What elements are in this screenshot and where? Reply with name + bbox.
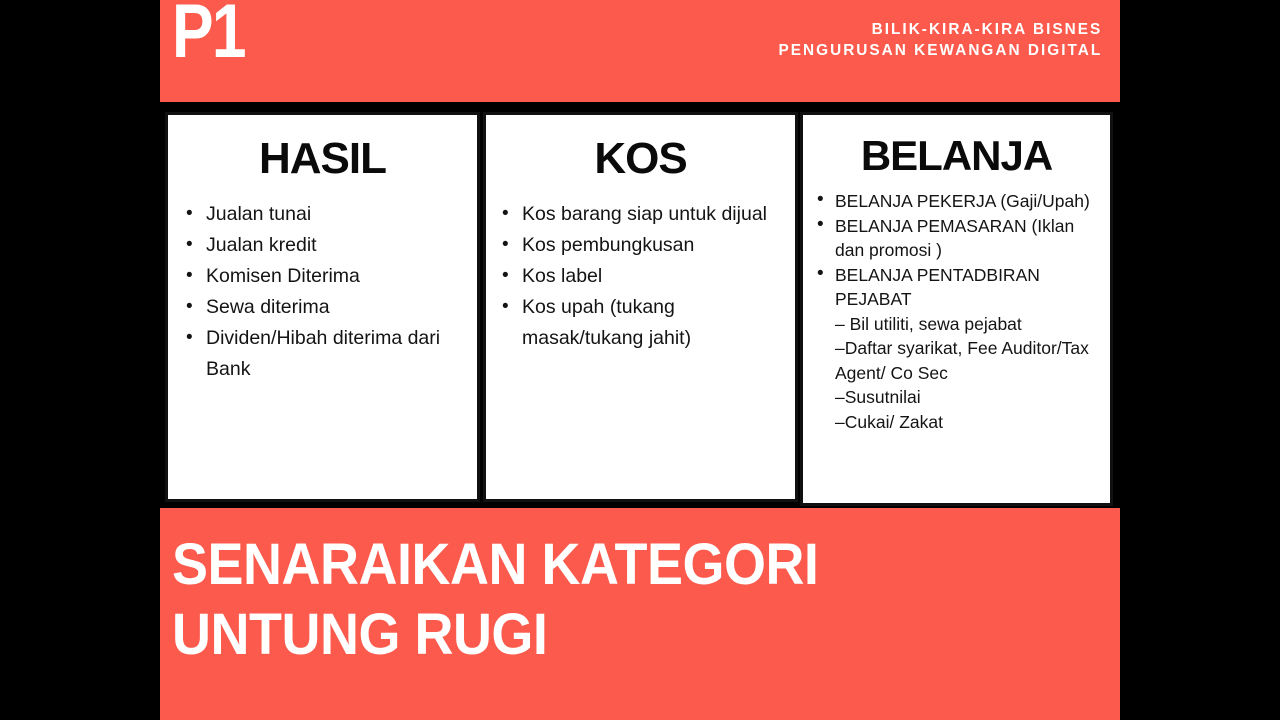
list-item: Dividen/Hibah diterima dari Bank [184, 323, 469, 385]
card-belanja: BELANJA BELANJA PEKERJA (Gaji/Upah) BELA… [800, 112, 1113, 506]
card-belanja-title: BELANJA [803, 135, 1110, 177]
list-item: Jualan kredit [184, 230, 469, 261]
sub-list-item: –Daftar syarikat, Fee Auditor/Tax Agent/… [835, 336, 1106, 385]
list-item: BELANJA PENTADBIRAN PEJABAT [815, 263, 1106, 312]
header-banner: P1 BILIK-KIRA-KIRA BISNES PENGURUSAN KEW… [160, 0, 1120, 102]
header-title-group: BILIK-KIRA-KIRA BISNES PENGURUSAN KEWANG… [765, 19, 1102, 61]
list-item: Kos pembungkusan [500, 230, 787, 261]
card-kos-list: Kos barang siap untuk dijual Kos pembung… [486, 199, 795, 354]
list-item: Kos barang siap untuk dijual [500, 199, 787, 230]
list-item: Sewa diterima [184, 292, 469, 323]
list-item: Jualan tunai [184, 199, 469, 230]
sub-list-item: –Susutnilai [835, 385, 1106, 410]
footer-banner: SENARAIKAN KATEGORI UNTUNG RUGI [160, 508, 1120, 720]
header-title-line-1: BILIK-KIRA-KIRA BISNES [778, 19, 1102, 40]
list-item: Kos label [500, 261, 787, 292]
footer-line-1: SENARAIKAN KATEGORI [172, 530, 1037, 600]
header-title-line-2: PENGURUSAN KEWANGAN DIGITAL [778, 40, 1102, 61]
card-belanja-list: BELANJA PEKERJA (Gaji/Upah) BELANJA PEMA… [803, 189, 1110, 312]
footer-text-group: SENARAIKAN KATEGORI UNTUNG RUGI [172, 530, 1102, 670]
sub-list-item: – Bil utiliti, sewa pejabat [835, 312, 1106, 337]
sub-list-item: –Cukai/ Zakat [835, 410, 1106, 435]
header-logo-p1: P1 [172, 0, 245, 70]
card-kos: KOS Kos barang siap untuk dijual Kos pem… [483, 112, 798, 502]
list-item: Kos upah (tukang masak/tukang jahit) [500, 292, 787, 354]
slide-canvas: P1 BILIK-KIRA-KIRA BISNES PENGURUSAN KEW… [0, 0, 1280, 720]
list-item: Komisen Diterima [184, 261, 469, 292]
card-kos-title: KOS [486, 137, 795, 181]
card-hasil: HASIL Jualan tunai Jualan kredit Komisen… [165, 112, 480, 502]
card-hasil-list: Jualan tunai Jualan kredit Komisen Diter… [168, 199, 477, 385]
footer-line-2: UNTUNG RUGI [172, 600, 1037, 670]
list-item: BELANJA PEMASARAN (Iklan dan promosi ) [815, 214, 1106, 263]
card-hasil-title: HASIL [168, 137, 477, 181]
list-item: BELANJA PEKERJA (Gaji/Upah) [815, 189, 1106, 214]
category-cards-row: HASIL Jualan tunai Jualan kredit Komisen… [160, 112, 1120, 506]
card-belanja-sublist: – Bil utiliti, sewa pejabat –Daftar syar… [803, 312, 1110, 435]
